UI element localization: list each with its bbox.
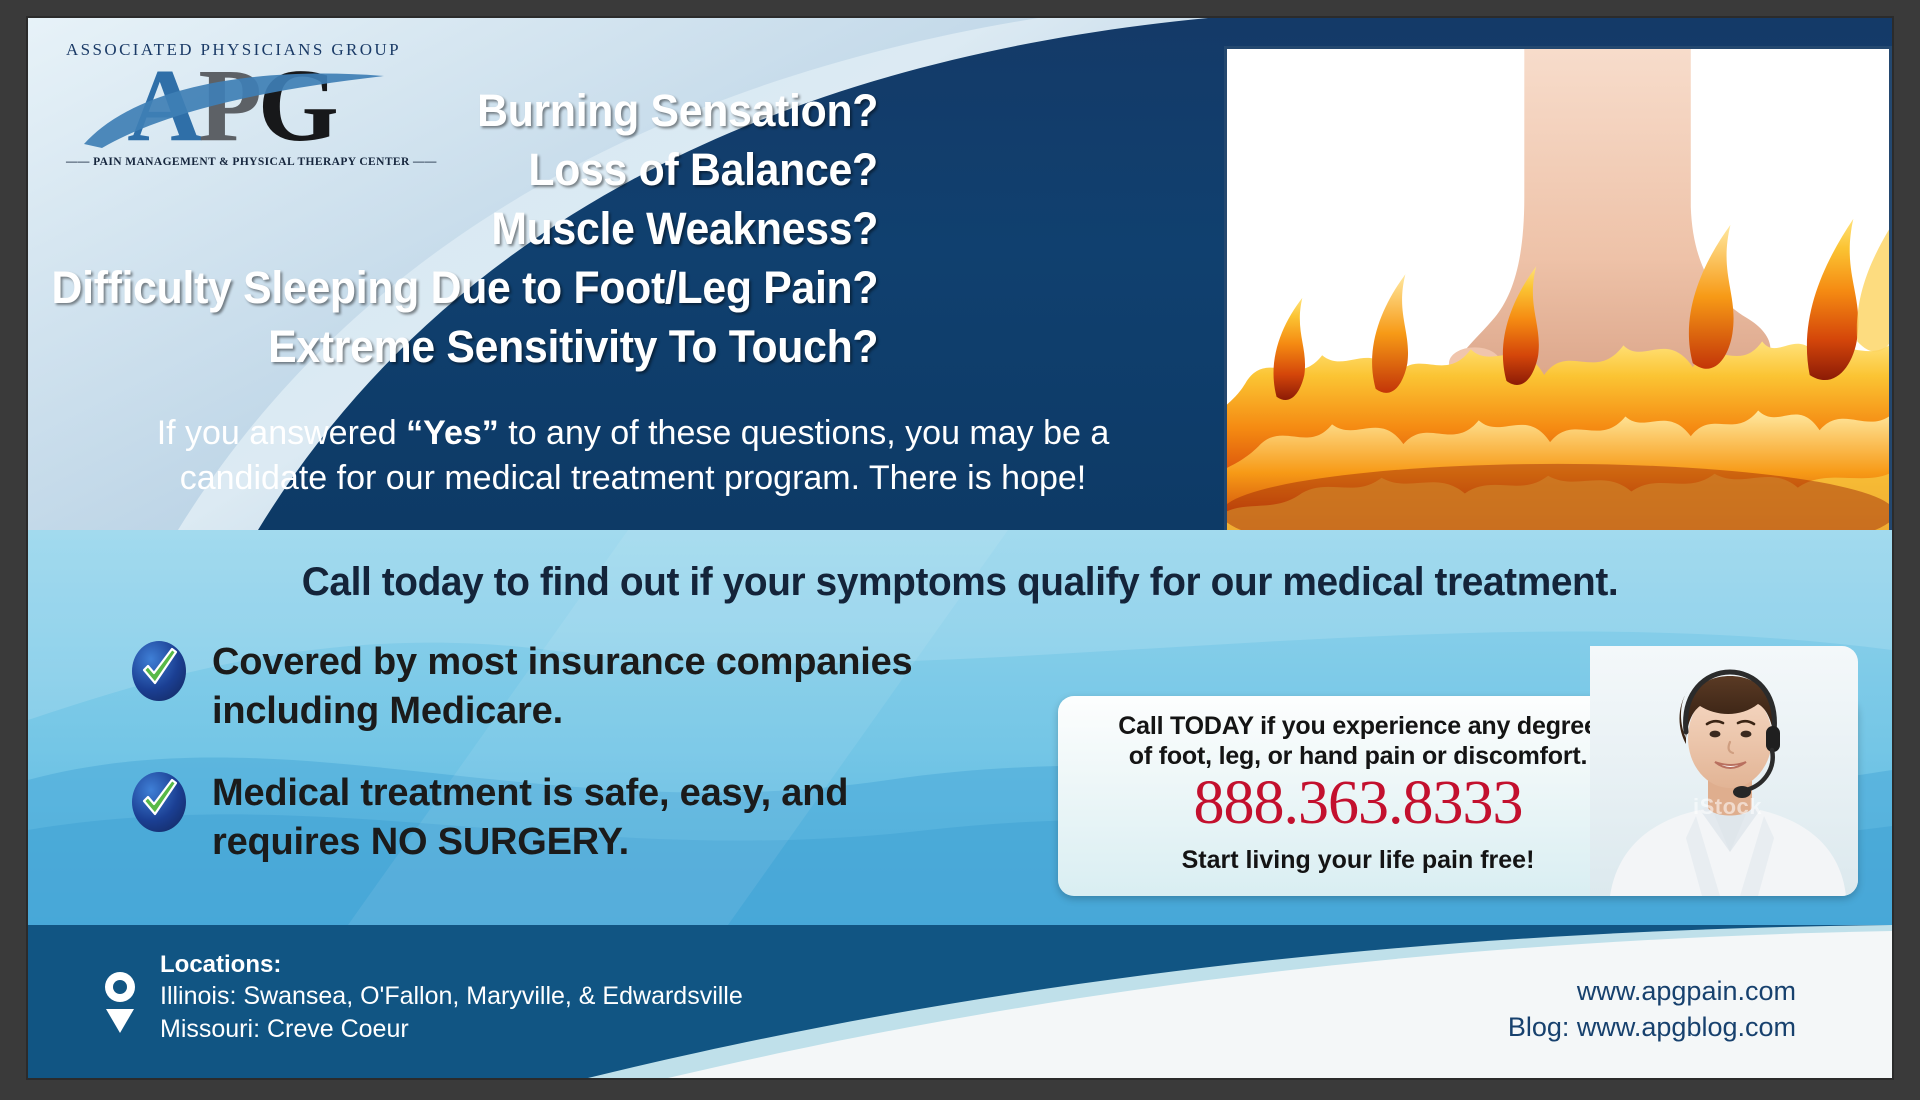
headline-1: Burning Sensation? bbox=[477, 88, 878, 133]
footer-panel: Locations: Illinois: Swansea, O'Fallon, … bbox=[28, 925, 1892, 1078]
middle-headline: Call today to find out if your symptoms … bbox=[56, 560, 1864, 605]
benefits-list: Covered by most insurance companies incl… bbox=[128, 638, 958, 901]
subtext-part-1: If you answered bbox=[157, 414, 406, 452]
headline-3: Muscle Weakness? bbox=[491, 206, 878, 251]
headline-2: Loss of Balance? bbox=[529, 147, 878, 192]
logo-letter-g: G bbox=[258, 48, 335, 163]
middle-panel: Call today to find out if your symptoms … bbox=[28, 530, 1892, 925]
benefit-text: Medical treatment is safe, easy, and req… bbox=[212, 769, 958, 866]
locations-missouri: Missouri: Creve Coeur bbox=[160, 1013, 743, 1046]
website-block: www.apgpain.com Blog: www.apgblog.com bbox=[1508, 973, 1796, 1046]
apg-logo: ASSOCIATED PHYSICIANS GROUP APG —— PAIN … bbox=[66, 40, 396, 168]
stock-watermark: iStock bbox=[1693, 794, 1762, 820]
cta-line-1: Call TODAY if you experience any degree bbox=[1078, 712, 1638, 742]
headline-5: Extreme Sensitivity To Touch? bbox=[268, 324, 878, 369]
phone-number[interactable]: 888.363.8333 bbox=[1078, 772, 1638, 834]
subtext-emphasis-yes: “Yes” bbox=[406, 414, 499, 452]
advertisement-poster: ASSOCIATED PHYSICIANS GROUP APG —— PAIN … bbox=[28, 18, 1892, 1078]
locations-block: Locations: Illinois: Swansea, O'Fallon, … bbox=[160, 950, 743, 1047]
qualification-subtext: If you answered “Yes” to any of these qu… bbox=[88, 411, 1178, 501]
hero-image-foot-on-fire bbox=[1224, 46, 1892, 530]
checkmark-icon bbox=[128, 640, 190, 702]
locations-illinois: Illinois: Swansea, O'Fallon, Maryville, … bbox=[160, 980, 743, 1013]
blog-url[interactable]: Blog: www.apgblog.com bbox=[1508, 1009, 1796, 1045]
headline-4: Difficulty Sleeping Due to Foot/Leg Pain… bbox=[51, 265, 878, 310]
cta-line-2: of foot, leg, or hand pain or discomfort… bbox=[1078, 742, 1638, 772]
checkmark-icon bbox=[128, 771, 190, 833]
logo-mark: APG bbox=[66, 58, 396, 154]
call-to-action-card[interactable]: Call TODAY if you experience any degree … bbox=[1058, 696, 1858, 896]
benefit-item: Covered by most insurance companies incl… bbox=[128, 638, 958, 735]
top-panel: ASSOCIATED PHYSICIANS GROUP APG —— PAIN … bbox=[28, 18, 1892, 530]
benefit-item: Medical treatment is safe, easy, and req… bbox=[128, 769, 958, 866]
logo-letter-a: A bbox=[127, 48, 198, 163]
benefit-text: Covered by most insurance companies incl… bbox=[212, 638, 958, 735]
locations-heading: Locations: bbox=[160, 950, 743, 980]
cta-line-3: Start living your life pain free! bbox=[1078, 846, 1638, 875]
location-pin-icon bbox=[98, 965, 142, 1035]
logo-letter-p: P bbox=[198, 48, 258, 163]
call-center-agent-photo bbox=[1590, 646, 1858, 896]
website-url[interactable]: www.apgpain.com bbox=[1508, 973, 1796, 1009]
